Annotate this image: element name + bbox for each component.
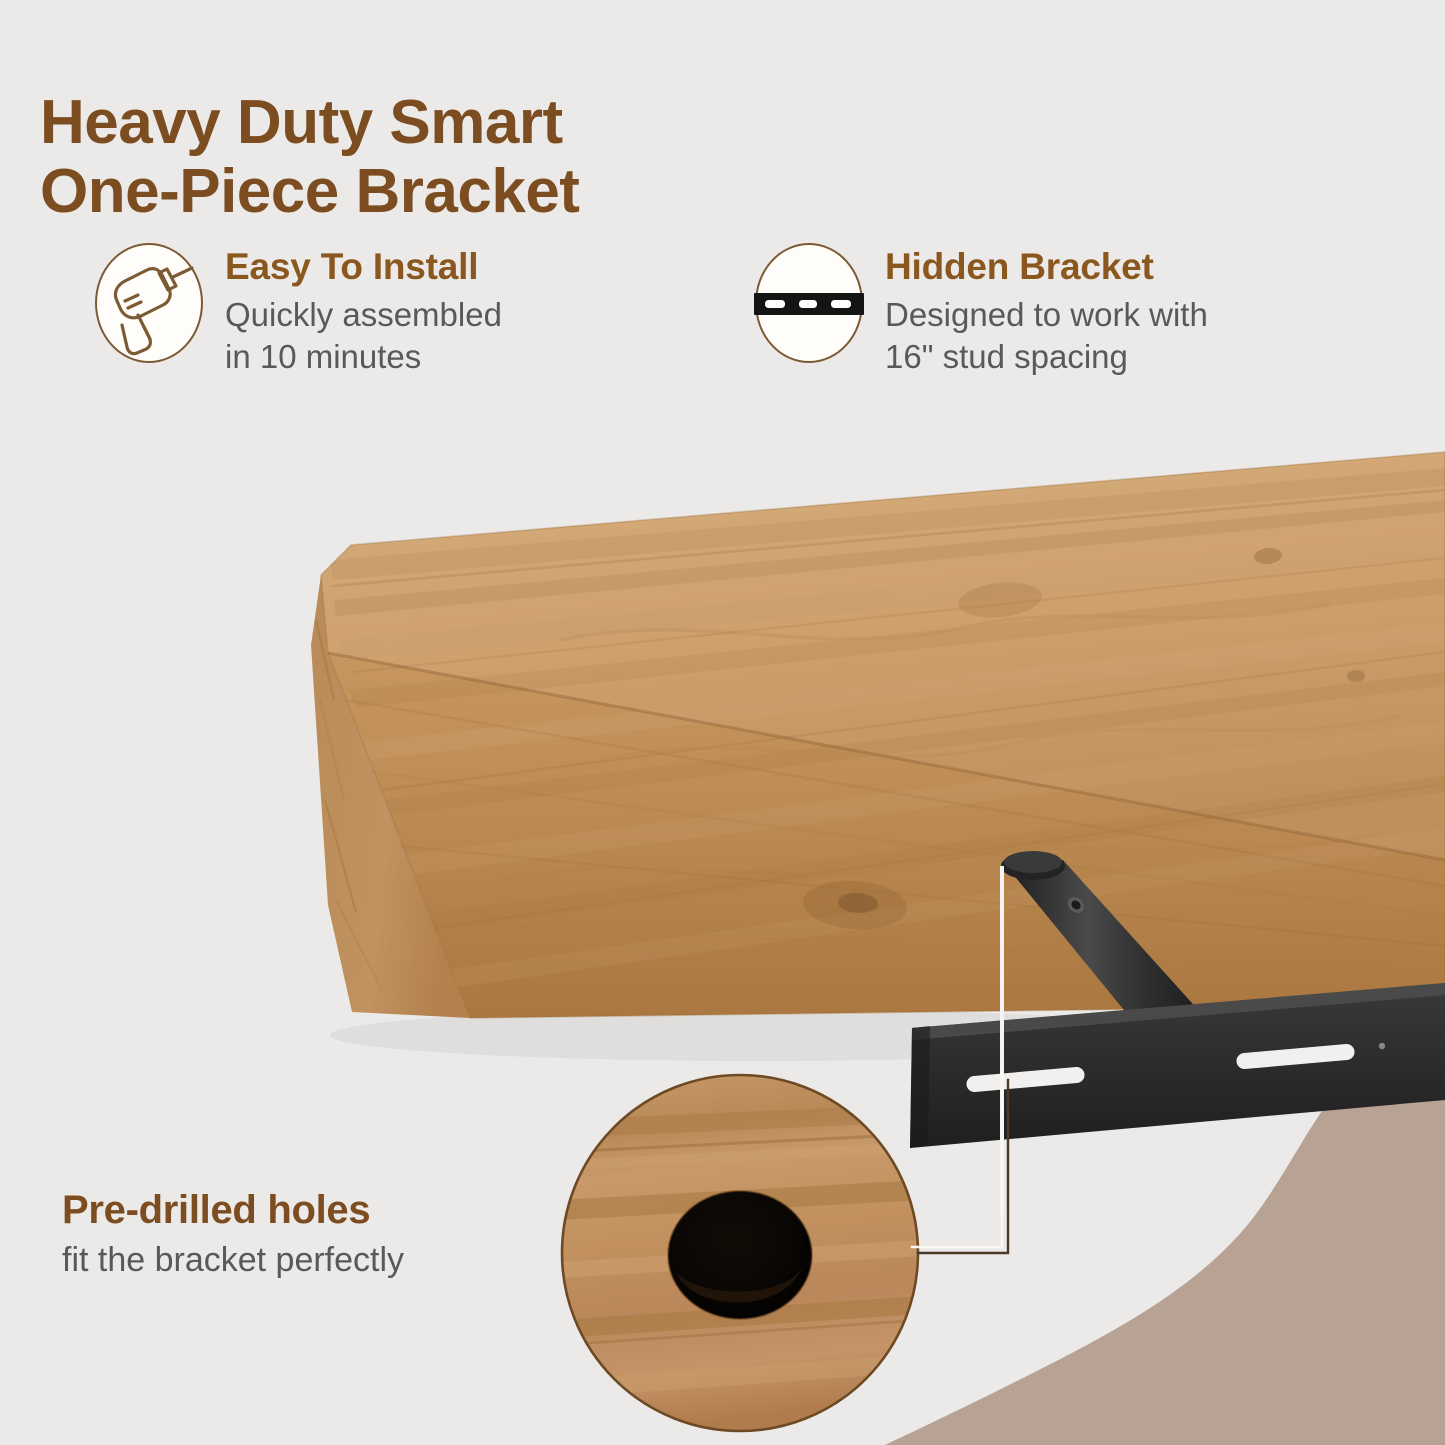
feature-description: Quickly assembled in 10 minutes — [225, 294, 502, 378]
feature-text-block: Easy To Install Quickly assembled in 10 … — [225, 243, 502, 378]
caption-title: Pre-drilled holes — [62, 1188, 582, 1232]
headline-line-1: Heavy Duty Smart — [40, 88, 900, 157]
feature-item-easy-to-install: Easy To Install Quickly assembled in 10 … — [95, 243, 755, 378]
pre-drilled-holes-caption: Pre-drilled holes fit the bracket perfec… — [62, 1188, 582, 1281]
caption-subtitle: fit the bracket perfectly — [62, 1240, 582, 1281]
feature-description: Designed to work with 16" stud spacing — [885, 294, 1208, 378]
headline-line-2: One-Piece Bracket — [40, 157, 900, 226]
feature-text-block: Hidden Bracket Designed to work with 16"… — [885, 243, 1208, 378]
feature-title: Hidden Bracket — [885, 247, 1208, 288]
page-title: Heavy Duty Smart One-Piece Bracket — [40, 88, 900, 227]
power-drill-icon — [95, 243, 203, 363]
feature-desc-line-2: 16" stud spacing — [885, 336, 1208, 378]
product-marketing-image: Heavy Duty Smart One-Piece Bracket — [0, 0, 1445, 1445]
feature-title: Easy To Install — [225, 247, 502, 288]
feature-desc-line-2: in 10 minutes — [225, 336, 502, 378]
feature-item-hidden-bracket: Hidden Bracket Designed to work with 16"… — [755, 243, 1395, 378]
feature-list: Easy To Install Quickly assembled in 10 … — [95, 243, 1415, 378]
feature-desc-line-1: Quickly assembled — [225, 294, 502, 336]
background-wave-shape — [885, 1025, 1445, 1445]
hidden-bracket-icon — [755, 243, 863, 363]
feature-desc-line-1: Designed to work with — [885, 294, 1208, 336]
